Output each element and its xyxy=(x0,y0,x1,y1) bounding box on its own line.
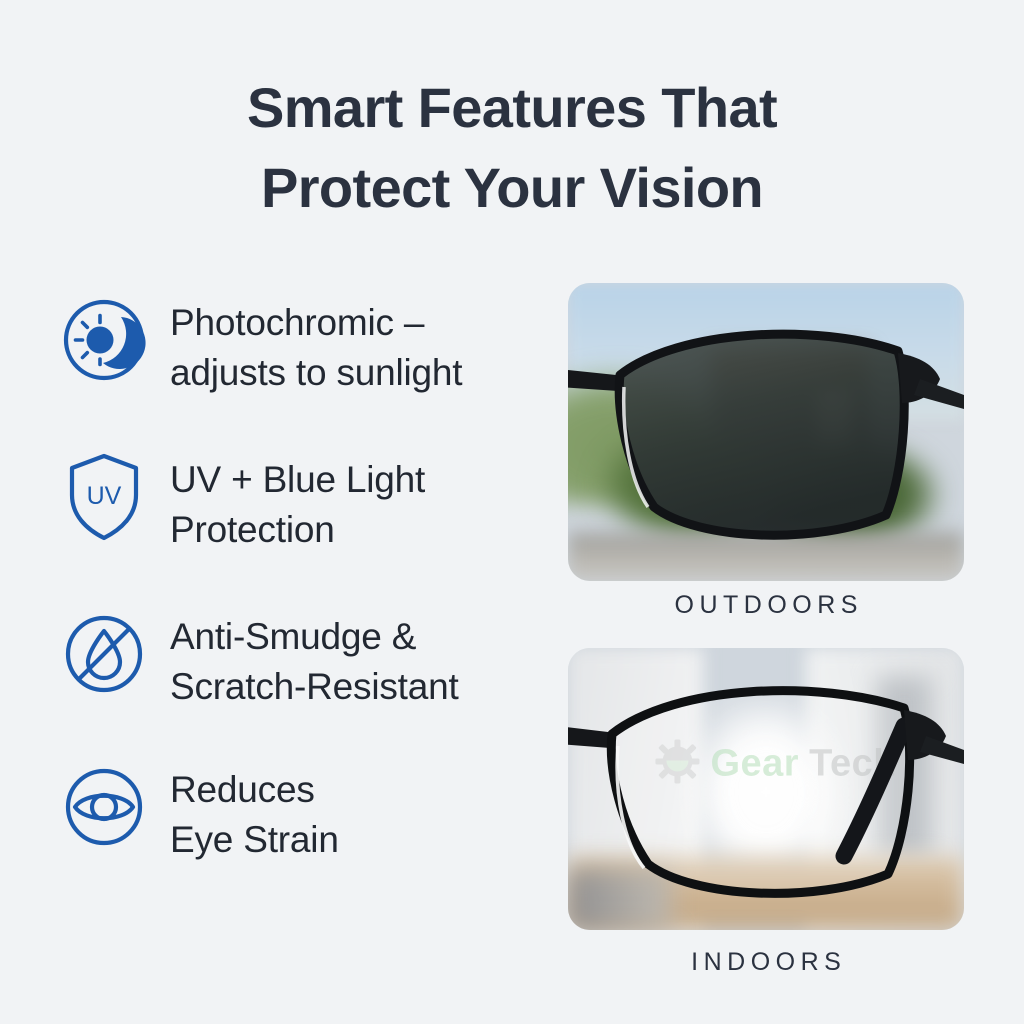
feature-line-1: UV + Blue Light xyxy=(170,455,425,505)
feature-list: Photochromic – adjusts to sunlight UV UV… xyxy=(56,292,556,865)
feature-line-1: Photochromic – xyxy=(170,298,462,348)
page-title-line-1: Smart Features That xyxy=(0,68,1024,148)
feature-item-eye-strain: Reduces Eye Strain xyxy=(56,759,556,864)
outdoors-caption: OUTDOORS xyxy=(568,591,964,620)
indoors-photo: Gear Tech xyxy=(568,648,964,930)
feature-line-1: Reduces xyxy=(170,765,339,815)
feature-line-2: Protection xyxy=(170,505,425,555)
feature-item-uv-protection: UV UV + Blue Light Protection xyxy=(56,449,556,554)
no-water-droplet-icon xyxy=(56,606,152,702)
page-title: Smart Features That Protect Your Vision xyxy=(0,68,1024,227)
outdoors-photo xyxy=(568,283,964,581)
feature-item-anti-smudge: Anti-Smudge & Scratch-Resistant xyxy=(56,606,556,711)
feature-line-2: Eye Strain xyxy=(170,815,339,865)
feature-text-uv-protection: UV + Blue Light Protection xyxy=(152,449,425,554)
feature-line-2: adjusts to sunlight xyxy=(170,348,462,398)
eyeglasses-clear-lens xyxy=(568,648,964,930)
uv-shield-icon: UV xyxy=(56,449,152,545)
uv-shield-label: UV xyxy=(87,482,122,510)
sun-moon-icon xyxy=(56,292,152,388)
indoors-caption: INDOORS xyxy=(568,948,964,977)
feature-item-photochromic: Photochromic – adjusts to sunlight xyxy=(56,292,556,397)
feature-line-1: Anti-Smudge & xyxy=(170,612,459,662)
feature-text-photochromic: Photochromic – adjusts to sunlight xyxy=(152,292,462,397)
sunglasses-dark-lens xyxy=(568,283,964,581)
feature-line-2: Scratch-Resistant xyxy=(170,662,459,712)
infographic-poster: Smart Features That Protect Your Vision xyxy=(0,0,1024,1024)
feature-text-eye-strain: Reduces Eye Strain xyxy=(152,759,339,864)
page-title-line-2: Protect Your Vision xyxy=(0,148,1024,228)
feature-text-anti-smudge: Anti-Smudge & Scratch-Resistant xyxy=(152,606,459,711)
eye-icon xyxy=(56,759,152,855)
